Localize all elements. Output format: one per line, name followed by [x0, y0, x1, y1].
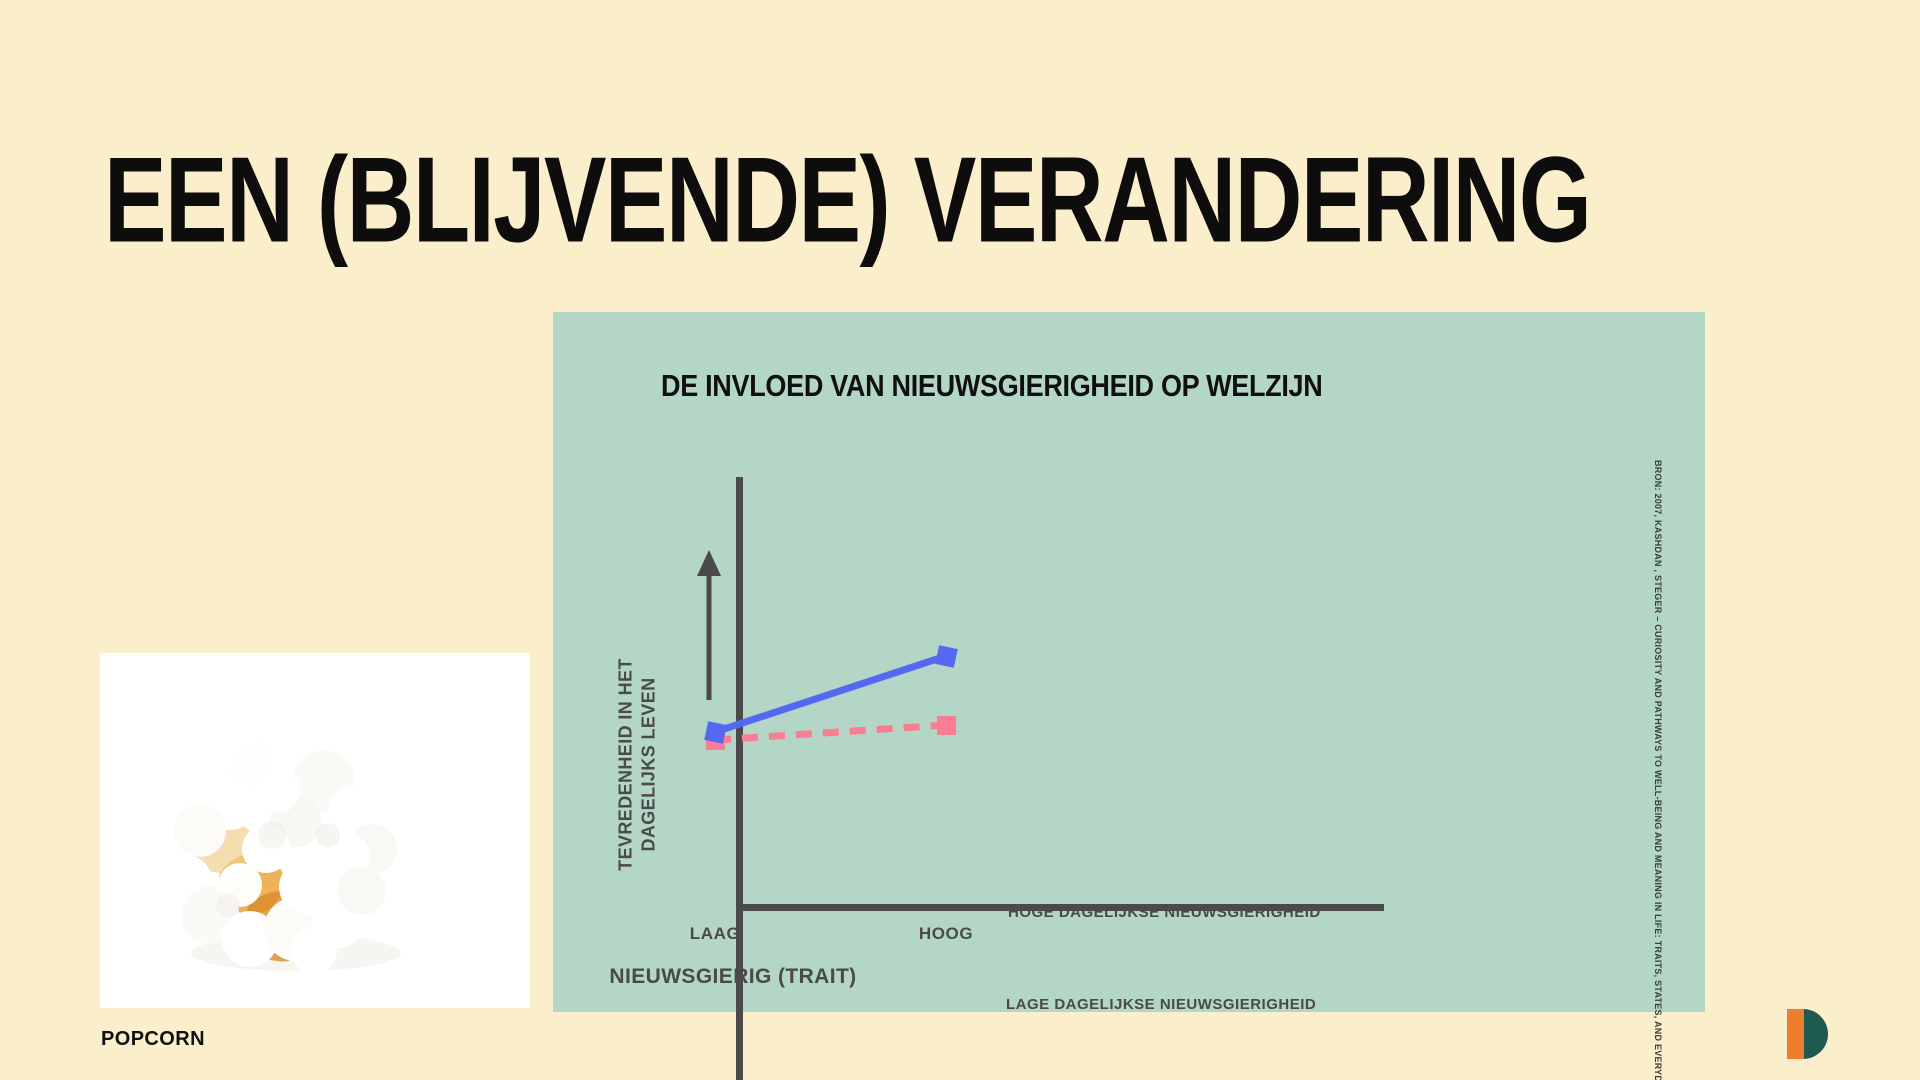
y-axis-label-line1: TEVREDENHEID IN HET	[615, 615, 638, 915]
slide-canvas: EEN (BLIJVENDE) VERANDERING	[0, 0, 1920, 1080]
photo-caption: POPCORN	[101, 1028, 205, 1051]
x-tick-hoog: HOOG	[919, 924, 973, 944]
series-lage-dagelijkse-nieuwsgierigheid	[706, 716, 956, 750]
y-axis-line	[736, 477, 743, 1080]
x-tick-laag: LAAG	[690, 924, 741, 944]
popcorn-photo-card	[100, 653, 530, 1008]
brand-logo-icon[interactable]	[1776, 1007, 1830, 1061]
popcorn-photo	[100, 653, 530, 1008]
x-axis-label: NIEUWSGIERIG (TRAIT)	[609, 965, 856, 989]
y-axis-label-line2: DAGELIJKS LEVEN	[637, 615, 660, 915]
y-axis-label: TEVREDENHEID IN HET DAGELIJKS LEVEN	[615, 615, 660, 915]
legend-item-lage-dagelijkse-nieuwsgierigheid: LAGE DAGELIJKSE NIEUWSGIERIGHEID	[1006, 996, 1316, 1013]
legend-item-hoge-dagelijkse-nieuwsgierigheid: HOGE DAGELIJKSE NIEUWSGIERIGHEID	[1008, 904, 1321, 921]
source-credit: BRON: 2007, KASHDAN , STEGER – CURIOSITY…	[1653, 460, 1663, 1020]
chart-title: DE INVLOED VAN NIEUWSGIERIGHEID OP WELZI…	[661, 369, 1322, 404]
chart-panel: DE INVLOED VAN NIEUWSGIERIGHEID OP WELZI…	[553, 312, 1705, 1012]
page-title: EEN (BLIJVENDE) VERANDERING	[104, 140, 1590, 261]
up-arrow-icon	[697, 550, 721, 700]
